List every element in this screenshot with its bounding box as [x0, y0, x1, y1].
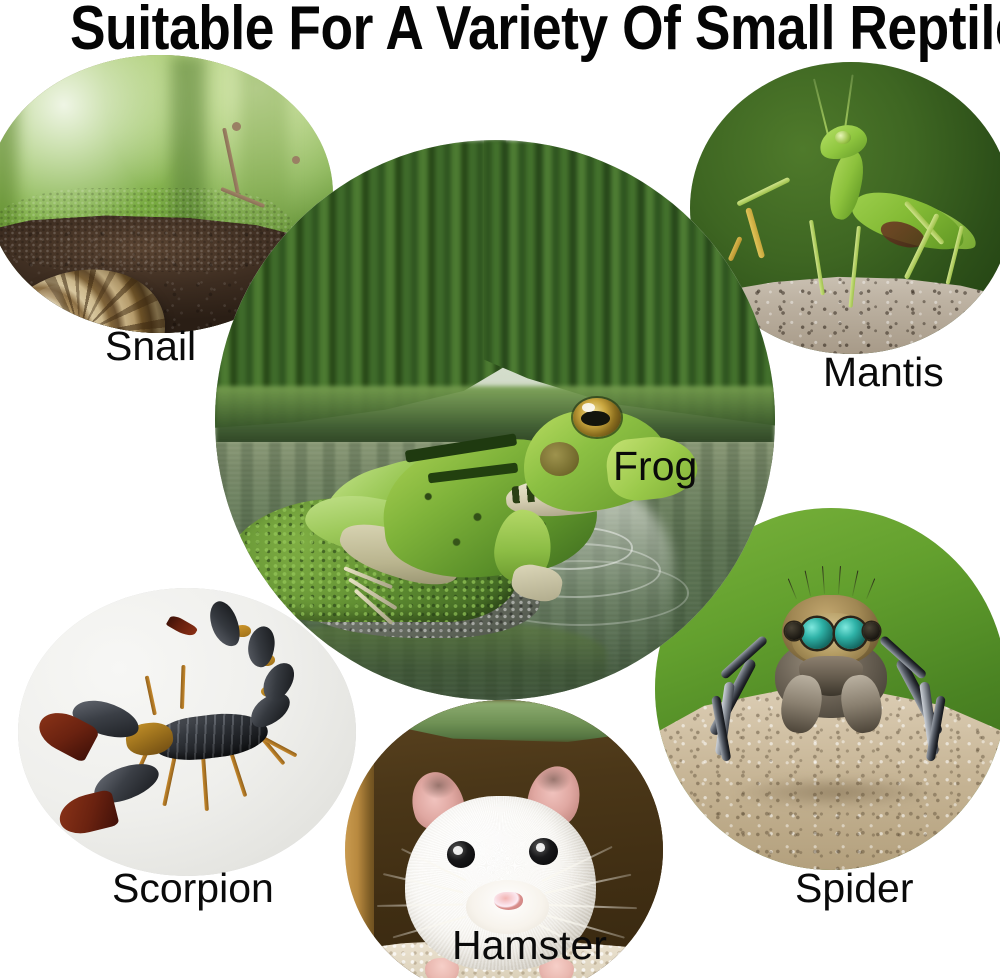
- animal-label-frog: Frog: [613, 446, 697, 487]
- hamster-eye-glint-left: [453, 846, 463, 855]
- animal-photo-frog: [215, 140, 775, 700]
- hamster-eye-left: [447, 841, 476, 868]
- frog-eye-glint: [582, 403, 594, 412]
- snail-tentacle-upper-tip: [232, 122, 241, 131]
- spider-shadow: [732, 776, 936, 809]
- infographic-canvas: Suitable For A Variety Of Small Reptiles: [0, 0, 1000, 978]
- animal-label-snail: Snail: [105, 326, 196, 367]
- frog-tympanum: [540, 442, 579, 476]
- page-title: Suitable For A Variety Of Small Reptiles: [70, 0, 930, 60]
- spider-eye-lateral-left: [785, 622, 803, 640]
- frog-pupil: [581, 411, 610, 426]
- hamster-ear-fuzz-right: [536, 766, 571, 793]
- animal-label-hamster: Hamster: [452, 925, 607, 966]
- animal-label-scorpion: Scorpion: [112, 868, 274, 909]
- hamster-eye-right: [529, 838, 558, 865]
- animal-label-spider: Spider: [795, 868, 914, 909]
- animal-label-mantis: Mantis: [823, 352, 944, 393]
- hamster-eye-glint-right: [536, 843, 546, 852]
- spider-eye-anterior-median-left: [801, 618, 833, 649]
- hamster-nose: [494, 892, 523, 910]
- spider-eye-anterior-median-right: [835, 618, 867, 649]
- mantis-eye: [835, 131, 851, 144]
